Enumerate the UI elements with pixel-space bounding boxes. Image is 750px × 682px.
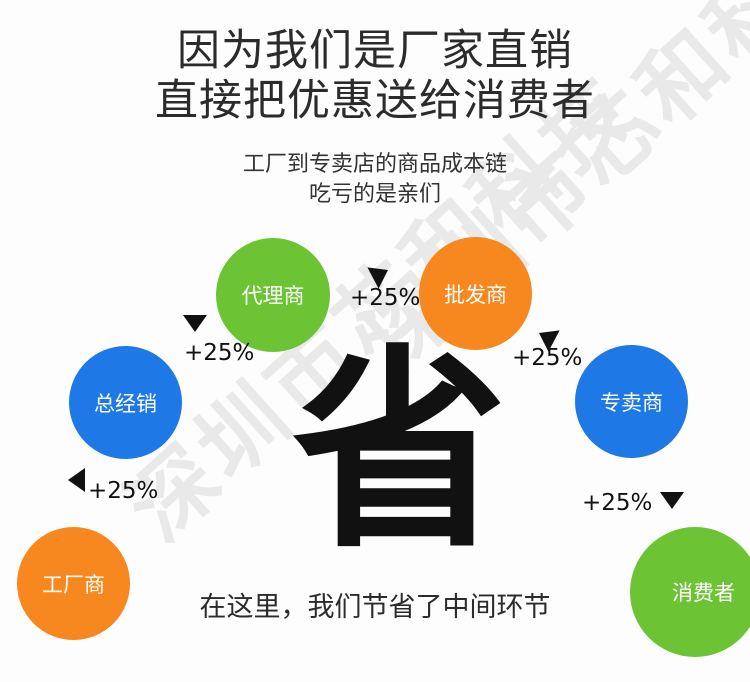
subheadline-line-2: 吃亏的是亲们 [0,180,750,210]
headline-block: 因为我们是厂家直销 直接把优惠送给消费者 [0,26,750,126]
node-agent-label: 代理商 [242,280,305,310]
headline-line-1: 因为我们是厂家直销 [0,26,750,76]
headline-line-2: 直接把优惠送给消费者 [0,76,750,126]
center-glyph-save: 省 [292,352,482,552]
footer-text: 在这里，我们节省了中间环节 [0,585,750,624]
node-retailer: 专卖商 [575,345,688,458]
node-wholesaler-label: 批发商 [444,279,507,309]
step-wholesaler-to-retailer-label: +25% [512,345,582,371]
triangle-down-icon-right [660,492,684,509]
node-distributor: 总经销 [69,346,182,459]
node-distributor-label: 总经销 [94,388,157,418]
step-distributor-to-agent-label: +25% [184,340,254,366]
triangle-left-icon [68,468,85,492]
subheadline-block: 工厂到专卖店的商品成本链 吃亏的是亲们 [0,150,750,210]
subheadline-line-1: 工厂到专卖店的商品成本链 [0,150,750,180]
infographic-canvas: 深圳市芯和科技 深圳市芯和科技 因为我们是厂家直销 直接把优惠送给消费者 工厂到… [0,0,750,682]
node-retailer-label: 专卖商 [600,387,663,417]
step-factory-to-distributor-label: +25% [88,478,158,504]
triangle-down-icon-left [183,315,207,332]
step-retailer-to-consumer-label: +25% [582,490,652,516]
step-agent-to-wholesaler-label: +25% [350,285,420,311]
